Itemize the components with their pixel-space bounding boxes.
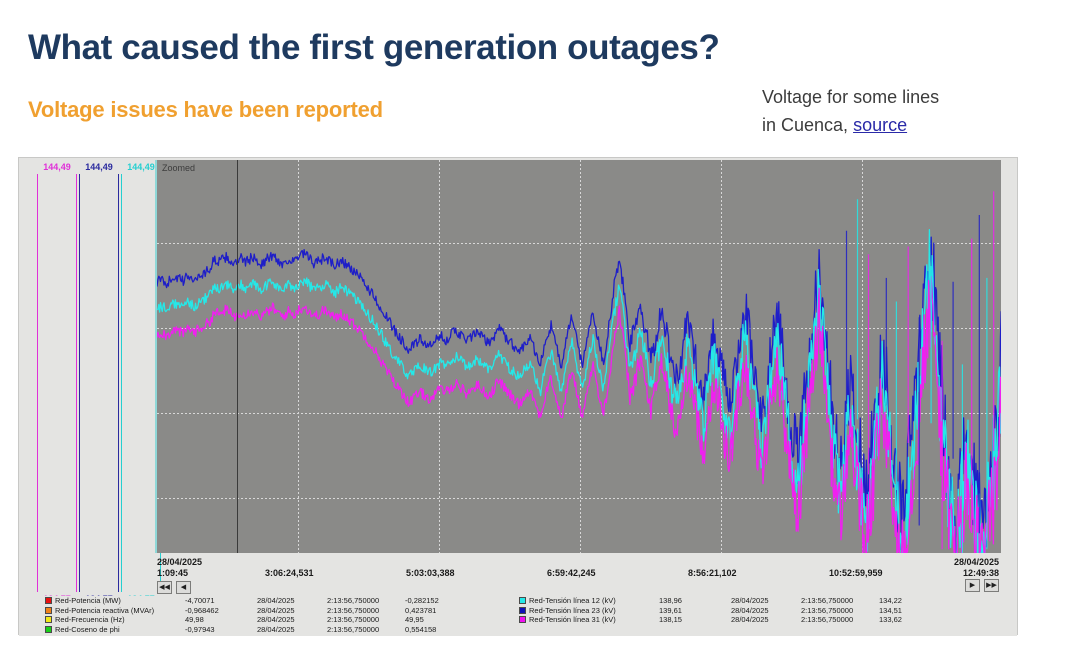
legend-value: -0,968462 [185, 606, 257, 615]
legend-series-name: Red-Coseno de phi [55, 625, 185, 634]
legend-row[interactable]: Red-Tensión línea 12 (kV)138,9628/04/202… [519, 596, 902, 606]
legend-value: -0,97943 [185, 625, 257, 634]
legend-date: 28/04/2025 [731, 596, 801, 605]
legend-row[interactable]: Red-Tensión línea 23 (kV)139,6128/04/202… [519, 606, 902, 616]
ruler-max-value: 144,49 [79, 161, 119, 173]
legend-time: 2:13:56,750000 [801, 606, 879, 615]
axis-end-date: 28/04/2025 [954, 557, 999, 568]
legend-date: 28/04/2025 [257, 606, 327, 615]
legend-date: 28/04/2025 [731, 606, 801, 615]
legend-value-2: 133,62 [879, 615, 902, 624]
axis-tick-label: 5:03:03,388 [406, 568, 455, 579]
page-subtitle: Voltage issues have been reported [28, 97, 383, 123]
chart-caption: Voltage for some lines in Cuenca, source [762, 84, 1062, 140]
legend-time: 2:13:56,750000 [801, 615, 879, 624]
legend-time: 2:13:56,750000 [327, 596, 405, 605]
legend-color-swatch [45, 616, 52, 623]
zoomed-label: Zoomed [162, 163, 195, 173]
cursor-line[interactable] [237, 160, 238, 553]
scada-chart-window: 144,49 124,77 144,49 124,77 144,49 124,7… [18, 157, 1018, 635]
legend-date: 28/04/2025 [257, 615, 327, 624]
voltage-traces [157, 160, 1001, 553]
legend-value-2: 0,423781 [405, 606, 436, 615]
legend-column-right: Red-Tensión línea 12 (kV)138,9628/04/202… [519, 596, 902, 625]
axis-end-time: 12:49:38 [954, 568, 999, 579]
legend-value-2: 49,95 [405, 615, 424, 624]
axis-tick-label: 10:52:59,959 [829, 568, 883, 579]
legend-color-swatch [519, 597, 526, 604]
trace-0 [157, 237, 1001, 553]
value-ruler-tension-23: 144,49 124,77 [79, 160, 119, 606]
caption-prefix: in Cuenca, [762, 115, 853, 135]
legend-value-2: 134,51 [879, 606, 902, 615]
nav-last-button[interactable]: ▶▶ [984, 579, 999, 592]
legend-column-left: Red-Potencia (MW)-4,7007128/04/20252:13:… [45, 596, 439, 634]
legend-time: 2:13:56,750000 [327, 606, 405, 615]
caption-line-2: in Cuenca, source [762, 112, 1062, 140]
nav-first-button[interactable]: ◀◀ [157, 581, 172, 594]
legend-value-2: -0,282152 [405, 596, 439, 605]
legend-value: -4,70071 [185, 596, 257, 605]
legend-time: 2:13:56,750000 [327, 625, 405, 634]
legend-series-name: Red-Tensión línea 12 (kV) [529, 596, 659, 605]
axis-start-date: 28/04/2025 [157, 557, 202, 568]
axis-tick-label: 8:56:21,102 [688, 568, 737, 579]
axis-end-label: 28/04/2025 12:49:38 [954, 557, 999, 579]
caption-line-1: Voltage for some lines [762, 84, 1062, 112]
series-legend: Red-Potencia (MW)-4,7007128/04/20252:13:… [19, 596, 1017, 636]
legend-time: 2:13:56,750000 [801, 596, 879, 605]
trace-1 [157, 230, 1001, 553]
legend-color-swatch [45, 597, 52, 604]
legend-value: 49,98 [185, 615, 257, 624]
ruler-rail [79, 174, 119, 592]
axis-tick-label: 3:06:24,531 [265, 568, 314, 579]
legend-date: 28/04/2025 [731, 615, 801, 624]
legend-series-name: Red-Frecuencia (Hz) [55, 615, 185, 624]
legend-series-name: Red-Tensión línea 23 (kV) [529, 606, 659, 615]
legend-value: 139,61 [659, 606, 731, 615]
legend-color-swatch [519, 616, 526, 623]
legend-row[interactable]: Red-Frecuencia (Hz)49,9828/04/20252:13:5… [45, 615, 439, 625]
axis-tick-label: 6:59:42,245 [547, 568, 596, 579]
legend-row[interactable]: Red-Potencia reactiva (MVAr)-0,96846228/… [45, 606, 439, 616]
nav-next-button[interactable]: ▶ [965, 579, 980, 592]
legend-value-2: 0,554158 [405, 625, 436, 634]
legend-value: 138,96 [659, 596, 731, 605]
ruler-max-value: 144,49 [37, 161, 77, 173]
legend-color-swatch [45, 626, 52, 633]
legend-value: 138,15 [659, 615, 731, 624]
legend-series-name: Red-Potencia reactiva (MVAr) [55, 606, 185, 615]
legend-row[interactable]: Red-Coseno de phi-0,9794328/04/20252:13:… [45, 625, 439, 635]
ruler-rail [37, 174, 77, 592]
legend-date: 28/04/2025 [257, 625, 327, 634]
legend-row[interactable]: Red-Potencia (MW)-4,7007128/04/20252:13:… [45, 596, 439, 606]
source-link[interactable]: source [853, 115, 907, 135]
page-title: What caused the first generation outages… [28, 28, 719, 68]
legend-time: 2:13:56,750000 [327, 615, 405, 624]
legend-value-2: 134,22 [879, 596, 902, 605]
legend-series-name: Red-Tensión línea 31 (kV) [529, 615, 659, 624]
axis-start-time: 1:09:45 [157, 568, 202, 579]
legend-date: 28/04/2025 [257, 596, 327, 605]
legend-row[interactable]: Red-Tensión línea 31 (kV)138,1528/04/202… [519, 615, 902, 625]
nav-prev-button[interactable]: ◀ [176, 581, 191, 594]
legend-color-swatch [45, 607, 52, 614]
value-ruler-tension-31: 144,49 124,77 [37, 160, 77, 606]
chart-plot-area[interactable]: Zoomed [155, 160, 1001, 553]
legend-color-swatch [519, 607, 526, 614]
legend-series-name: Red-Potencia (MW) [55, 596, 185, 605]
axis-start-label: 28/04/2025 1:09:45 [157, 557, 202, 579]
